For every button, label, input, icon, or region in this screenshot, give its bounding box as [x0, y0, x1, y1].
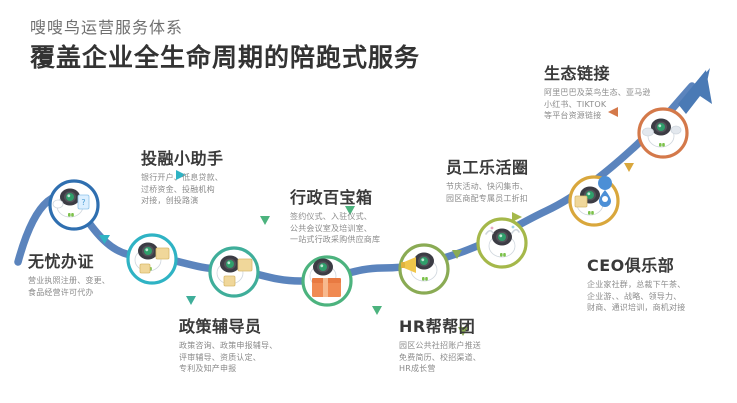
node-desc: 节庆活动、快闪集市、 园区商配专属员工折扣	[446, 181, 529, 204]
node-icon-xingzheng-baibaoxiang[interactable]	[303, 257, 351, 305]
node-label-shengtai-lianjie[interactable]: 生态链接 阿里巴巴及菜鸟生态、亚马逊 小红书、TIKTOK 等平台资源链接	[544, 64, 651, 122]
node-label-hr-bangbangtuan[interactable]: HR帮帮团 园区公共社招账户推送 免费简历、校招渠道、 HR成长营	[399, 317, 481, 375]
node-title: HR帮帮团	[399, 317, 481, 337]
node-desc: 营业执照注册、变更、 食品经营许可代办	[28, 275, 110, 298]
node-label-tourong-xiaozhushou[interactable]: 投融小助手 银行开户、低息贷款、 过桥资金、投融机构 对接，创投路演	[141, 149, 224, 207]
node-desc-line: 小红书、TIKTOK	[544, 99, 651, 111]
node-desc-line: 评审辅导、资质认定、	[179, 352, 277, 364]
node-label-zhengce-fudaoyuan[interactable]: 政策辅导员 政策咨询、政策申报辅导、 评审辅导、资质认定、 专利及知产申报	[179, 317, 277, 375]
node-desc-line: 阿里巴巴及菜鸟生态、亚马逊	[544, 87, 651, 99]
node-icon-yuangong-lehuoquan[interactable]	[478, 219, 526, 267]
node-desc: 政策咨询、政策申报辅导、 评审辅导、资质认定、 专利及知产申报	[179, 340, 277, 375]
node-title: 无忧办证	[28, 252, 110, 272]
node-desc-line: 节庆活动、快闪集市、	[446, 181, 529, 193]
node-icon-ceo-julebu[interactable]	[570, 176, 618, 225]
node-desc-line: 财商、通识培训，商机对接	[587, 302, 685, 314]
node-desc-line: 一站式行政采购供应商库	[290, 234, 380, 246]
node-desc: 签约仪式、入驻仪式、 公共会议室及培训室、 一站式行政采购供应商库	[290, 211, 380, 246]
page-title: 覆盖企业全生命周期的陪跑式服务	[30, 42, 420, 74]
node-label-xingzheng-baibaoxiang[interactable]: 行政百宝箱 签约仪式、入驻仪式、 公共会议室及培训室、 一站式行政采购供应商库	[290, 188, 380, 246]
node-desc-line: HR成长营	[399, 363, 481, 375]
node-title: 行政百宝箱	[290, 188, 380, 208]
node-desc-line: 企业家社群，总裁下午茶、	[587, 279, 685, 291]
node-desc-line: 营业执照注册、变更、	[28, 275, 110, 287]
node-icon-zhengce-fudaoyuan[interactable]	[210, 248, 258, 296]
node-desc-line: 食品经营许可代办	[28, 287, 110, 299]
node-title: CEO俱乐部	[587, 256, 685, 276]
node-title: 政策辅导员	[179, 317, 277, 337]
node-desc-line: 过桥资金、投融机构	[141, 184, 224, 196]
node-desc-line: 公共会议室及培训室、	[290, 223, 380, 235]
node-desc-line: 对接，创投路演	[141, 195, 224, 207]
node-title: 员工乐活圈	[446, 158, 529, 178]
node-desc: 银行开户、低息贷款、 过桥资金、投融机构 对接，创投路演	[141, 172, 224, 207]
node-desc-line: 企业游、、战略、领导力、	[587, 291, 685, 303]
node-desc: 阿里巴巴及菜鸟生态、亚马逊 小红书、TIKTOK 等平台资源链接	[544, 87, 651, 122]
node-desc-line: 免费简历、校招渠道、	[399, 352, 481, 364]
node-icon-hr-bangbangtuan[interactable]	[400, 245, 448, 293]
node-label-yuangong-lehuoquan[interactable]: 员工乐活圈 节庆活动、快闪集市、 园区商配专属员工折扣	[446, 158, 529, 204]
node-desc: 企业家社群，总裁下午茶、 企业游、、战略、领导力、 财商、通识培训，商机对接	[587, 279, 685, 314]
node-icon-tourong-xiaozhushou[interactable]	[128, 235, 176, 283]
node-desc-line: 签约仪式、入驻仪式、	[290, 211, 380, 223]
node-title: 投融小助手	[141, 149, 224, 169]
node-desc-line: 专利及知产申报	[179, 363, 277, 375]
svg-text:?: ?	[81, 198, 85, 207]
title-block: 嗖嗖鸟运营服务体系 覆盖企业全生命周期的陪跑式服务	[30, 18, 420, 74]
node-desc-line: 等平台资源链接	[544, 110, 651, 122]
node-icon-wuyou-banzheng[interactable]: ?	[50, 181, 98, 229]
node-desc-line: 园区商配专属员工折扣	[446, 193, 529, 205]
node-desc-line: 银行开户、低息贷款、	[141, 172, 224, 184]
node-label-ceo-julebu[interactable]: CEO俱乐部 企业家社群，总裁下午茶、 企业游、、战略、领导力、 财商、通识培训…	[587, 256, 685, 314]
node-desc-line: 园区公共社招账户推送	[399, 340, 481, 352]
eyebrow-title: 嗖嗖鸟运营服务体系	[30, 18, 420, 38]
infographic-canvas: ?	[0, 0, 737, 403]
node-title: 生态链接	[544, 64, 651, 84]
node-desc-line: 政策咨询、政策申报辅导、	[179, 340, 277, 352]
node-desc: 园区公共社招账户推送 免费简历、校招渠道、 HR成长营	[399, 340, 481, 375]
node-label-wuyou-banzheng[interactable]: 无忧办证 营业执照注册、变更、 食品经营许可代办	[28, 252, 110, 298]
